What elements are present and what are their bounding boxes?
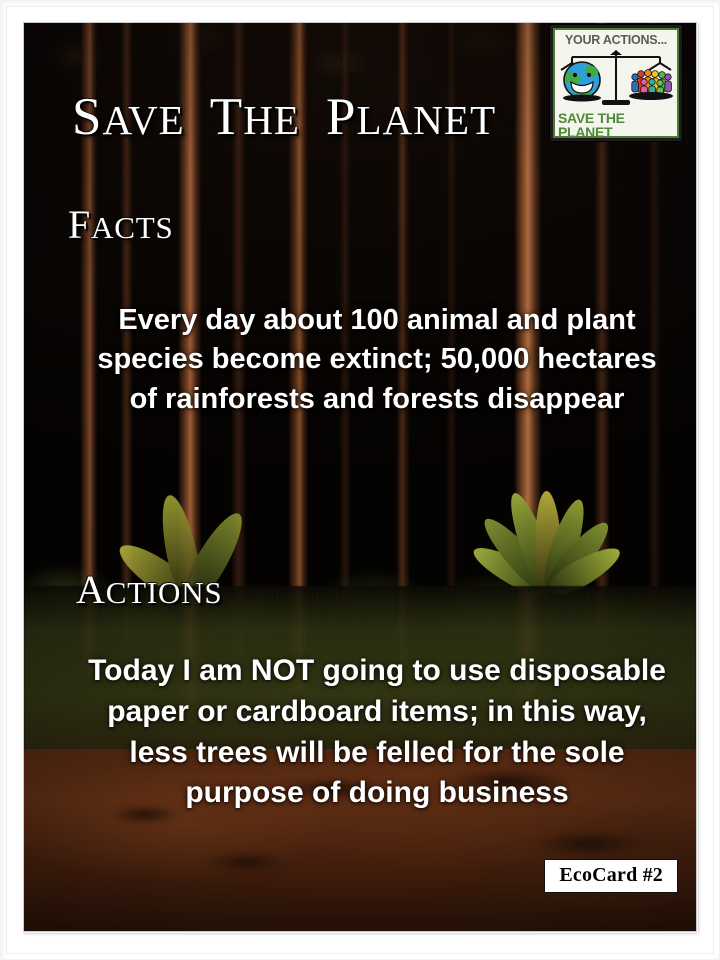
facts-body-text: Every day about 100 animal and plant spe… bbox=[87, 301, 667, 419]
logo-bottom-text: SAVE THE PLANET bbox=[558, 111, 674, 139]
ecocard-badge: EcoCard #2 bbox=[544, 859, 678, 893]
actions-heading: ACTIONS bbox=[76, 570, 222, 610]
your-actions-save-the-planet-logo: YOUR ACTIONS... bbox=[550, 25, 682, 141]
actions-body-text: Today I am NOT going to use disposable p… bbox=[77, 651, 677, 814]
poster-content: SAVE THE PLANET FACTS Every day about 10… bbox=[24, 23, 696, 931]
logo-top-text: YOUR ACTIONS... bbox=[565, 34, 667, 47]
eco-poster: SAVE THE PLANET FACTS Every day about 10… bbox=[24, 23, 696, 931]
photo-mat: SAVE THE PLANET FACTS Every day about 10… bbox=[23, 22, 697, 932]
facts-heading: FACTS bbox=[68, 205, 174, 245]
poster-frame: SAVE THE PLANET FACTS Every day about 10… bbox=[0, 0, 720, 960]
logo-inner: YOUR ACTIONS... bbox=[553, 28, 679, 138]
page-title: SAVE THE PLANET bbox=[72, 91, 496, 144]
balance-scale-icon bbox=[556, 48, 676, 110]
